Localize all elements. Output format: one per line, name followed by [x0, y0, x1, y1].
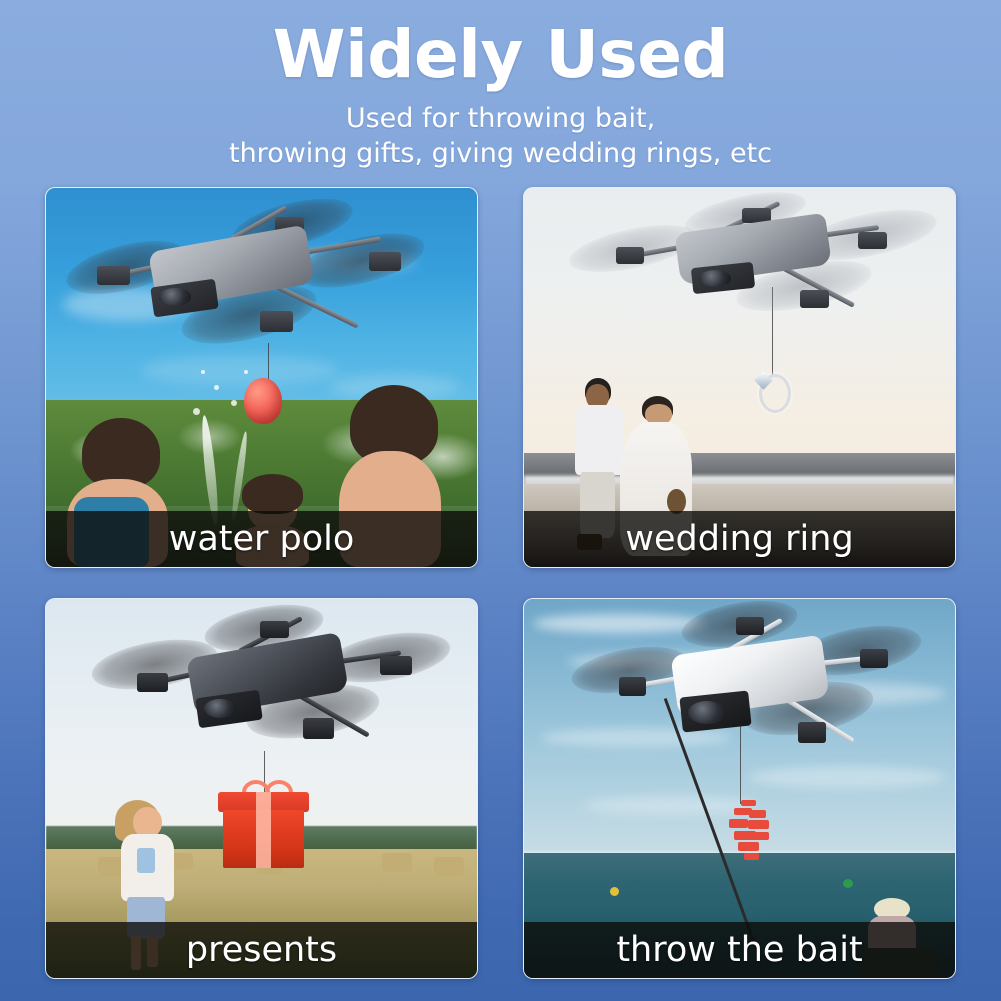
drone-motor: [260, 621, 288, 638]
caption-bar: water polo: [46, 511, 477, 567]
groom-shirt: [575, 405, 624, 475]
header: Widely Used Used for throwing bait, thro…: [0, 0, 1001, 171]
page-title: Widely Used: [0, 0, 1001, 88]
fishing-bait: [714, 800, 783, 864]
drone-white: [584, 610, 929, 784]
drone-motor: [616, 247, 645, 264]
drone-dark: [98, 610, 451, 784]
caption-bar: throw the bait: [524, 922, 955, 978]
caption-label: wedding ring: [625, 522, 853, 557]
gift-ribbon: [256, 792, 270, 868]
drone-motor: [97, 266, 130, 285]
camera-lens: [204, 699, 236, 718]
drone-motor: [303, 718, 335, 739]
bait-piece: [744, 853, 759, 861]
water-droplet: [193, 408, 200, 415]
subtitle-line-1: Used for throwing bait,: [0, 102, 1001, 137]
subtitle-line-2: throwing gifts, giving wedding rings, et…: [0, 137, 1001, 172]
child-hair: [82, 418, 160, 488]
drone-motor: [798, 722, 826, 743]
gift-box: [218, 792, 309, 868]
hay-bale: [382, 853, 412, 872]
panel-water-polo[interactable]: water polo: [45, 187, 478, 568]
drone-motor: [736, 617, 764, 634]
camera-lens: [688, 701, 726, 724]
drone-motor: [260, 311, 293, 332]
panel-throw-the-bait[interactable]: throw the bait: [523, 598, 956, 979]
bait-piece: [748, 820, 769, 828]
panel-wedding-ring[interactable]: wedding ring: [523, 187, 956, 568]
bait-piece: [738, 842, 759, 851]
water-balloon: [244, 378, 282, 424]
camera-lens: [699, 270, 732, 287]
caption-bar: presents: [46, 922, 477, 978]
drone-motor: [619, 677, 647, 696]
drone-motor: [137, 673, 169, 692]
drone-gray: [72, 199, 434, 373]
subtitle: Used for throwing bait, throwing gifts, …: [0, 88, 1001, 171]
drone-motor: [860, 649, 888, 668]
caption-label: water polo: [169, 522, 355, 557]
drone-motor: [858, 232, 887, 249]
caption-label: presents: [186, 933, 337, 968]
drone-gray: [576, 196, 938, 348]
shirt-graphic: [137, 848, 155, 872]
drone-motor: [800, 290, 829, 308]
panel-presents[interactable]: presents: [45, 598, 478, 979]
bait-piece: [729, 819, 748, 827]
hay-bale: [434, 857, 464, 876]
girl-head: [133, 807, 162, 838]
bait-piece: [741, 800, 756, 806]
panel-grid: water polo: [45, 187, 956, 979]
caption-bar: wedding ring: [524, 511, 955, 567]
camera-lens: [159, 288, 192, 305]
child-hair: [242, 474, 303, 514]
caption-label: throw the bait: [616, 933, 862, 968]
bait-piece: [752, 832, 769, 840]
drone-motor: [369, 252, 402, 271]
poster-canvas: Widely Used Used for throwing bait, thro…: [0, 0, 1001, 1001]
bait-piece: [749, 810, 766, 818]
drone-motor: [380, 656, 412, 675]
